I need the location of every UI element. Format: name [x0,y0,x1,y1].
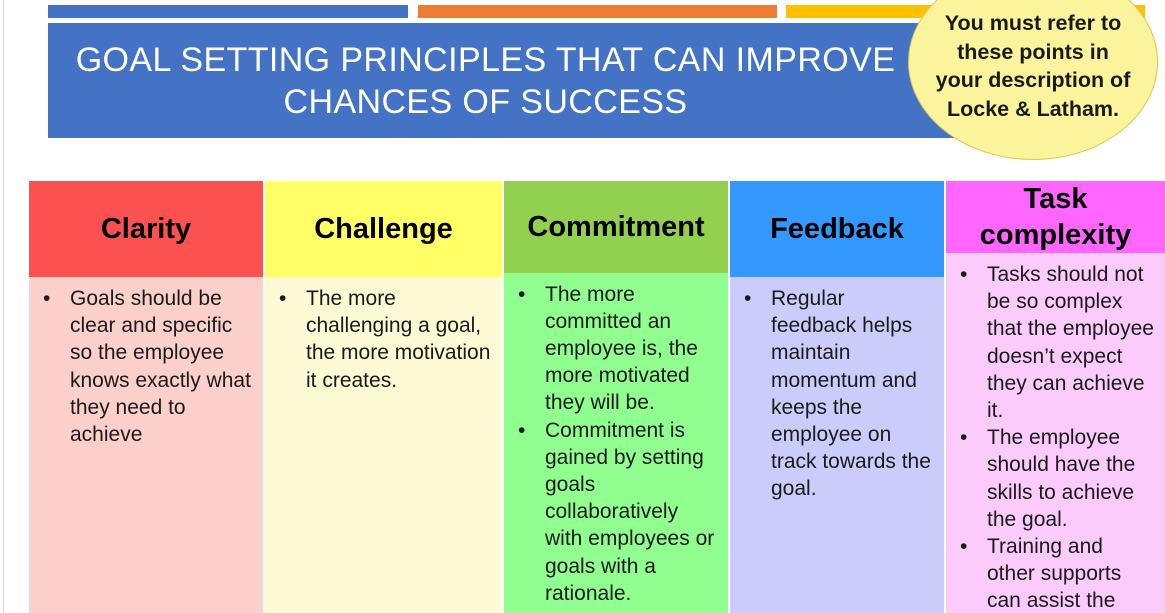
bullet-list: •The more challenging a goal, the more m… [269,285,492,394]
column-header-feedback: Feedback [730,181,944,277]
bullet-list: •Goals should be clear and specific so t… [33,285,253,448]
column-body-clarity: •Goals should be clear and specific so t… [29,277,263,613]
list-item: •Goals should be clear and specific so t… [33,285,253,448]
list-item-text: Training and other supports can assist t… [987,535,1121,613]
list-item-text: Tasks should not be so complex that the … [987,263,1154,422]
list-item-text: Regular feedback helps maintain momentum… [771,287,931,500]
list-item: •Training and other supports can assist … [950,533,1155,613]
list-item-text: Commitment is gained by setting goals co… [545,419,714,605]
list-item-text: The more challenging a goal, the more mo… [306,287,490,392]
list-item: •The employee should have the skills to … [950,424,1155,533]
table-column-challenge: Challenge •The more challenging a goal, … [265,181,504,613]
bullet-dot-icon: • [744,285,751,312]
table-column-commitment: Commitment •The more committed an employ… [504,181,730,613]
list-item-text: The employee should have the skills to a… [987,426,1135,531]
table-column-task-complexity: Task complexity •Tasks should not be so … [946,181,1165,613]
bullet-dot-icon: • [960,533,967,560]
column-header-clarity: Clarity [29,181,263,277]
bullet-dot-icon: • [43,285,50,312]
callout-text: You must refer to these points in your d… [935,1,1131,123]
column-header-task-complexity: Task complexity [946,181,1165,253]
list-item: •The more challenging a goal, the more m… [269,285,492,394]
list-item: •Commitment is gained by setting goals c… [508,417,718,607]
page-edge-divider [3,0,4,613]
bullet-dot-icon: • [960,261,967,288]
bullet-dot-icon: • [279,285,286,312]
list-item: •Regular feedback helps maintain momentu… [734,285,934,503]
table-column-feedback: Feedback •Regular feedback helps maintai… [730,181,946,613]
bullet-list: •Tasks should not be so complex that the… [950,261,1155,613]
list-item: •The more committed an employee is, the … [508,281,718,417]
bullet-dot-icon: • [518,281,525,308]
column-body-feedback: •Regular feedback helps maintain momentu… [730,277,944,613]
bullet-list: •The more committed an employee is, the … [508,281,718,607]
list-item-text: The more committed an employee is, the m… [545,283,698,415]
slide-title: GOAL SETTING PRINCIPLES THAT CAN IMPROVE… [48,23,923,138]
column-header-challenge: Challenge [265,181,502,277]
column-body-task-complexity: •Tasks should not be so complex that the… [946,253,1165,613]
slide-canvas: GOAL SETTING PRINCIPLES THAT CAN IMPROVE… [0,0,1165,613]
column-body-challenge: •The more challenging a goal, the more m… [265,277,502,613]
column-body-commitment: •The more committed an employee is, the … [504,273,728,613]
column-header-commitment: Commitment [504,181,728,273]
bullet-dot-icon: • [518,417,525,444]
bullet-list: •Regular feedback helps maintain momentu… [734,285,934,503]
bullet-dot-icon: • [960,424,967,451]
accent-bar-orange [418,5,777,18]
table-column-clarity: Clarity •Goals should be clear and speci… [29,181,265,613]
list-item-text: Goals should be clear and specific so th… [70,287,251,446]
list-item: •Tasks should not be so complex that the… [950,261,1155,424]
accent-bar-blue [48,5,408,18]
principles-table: Clarity •Goals should be clear and speci… [29,181,1165,613]
